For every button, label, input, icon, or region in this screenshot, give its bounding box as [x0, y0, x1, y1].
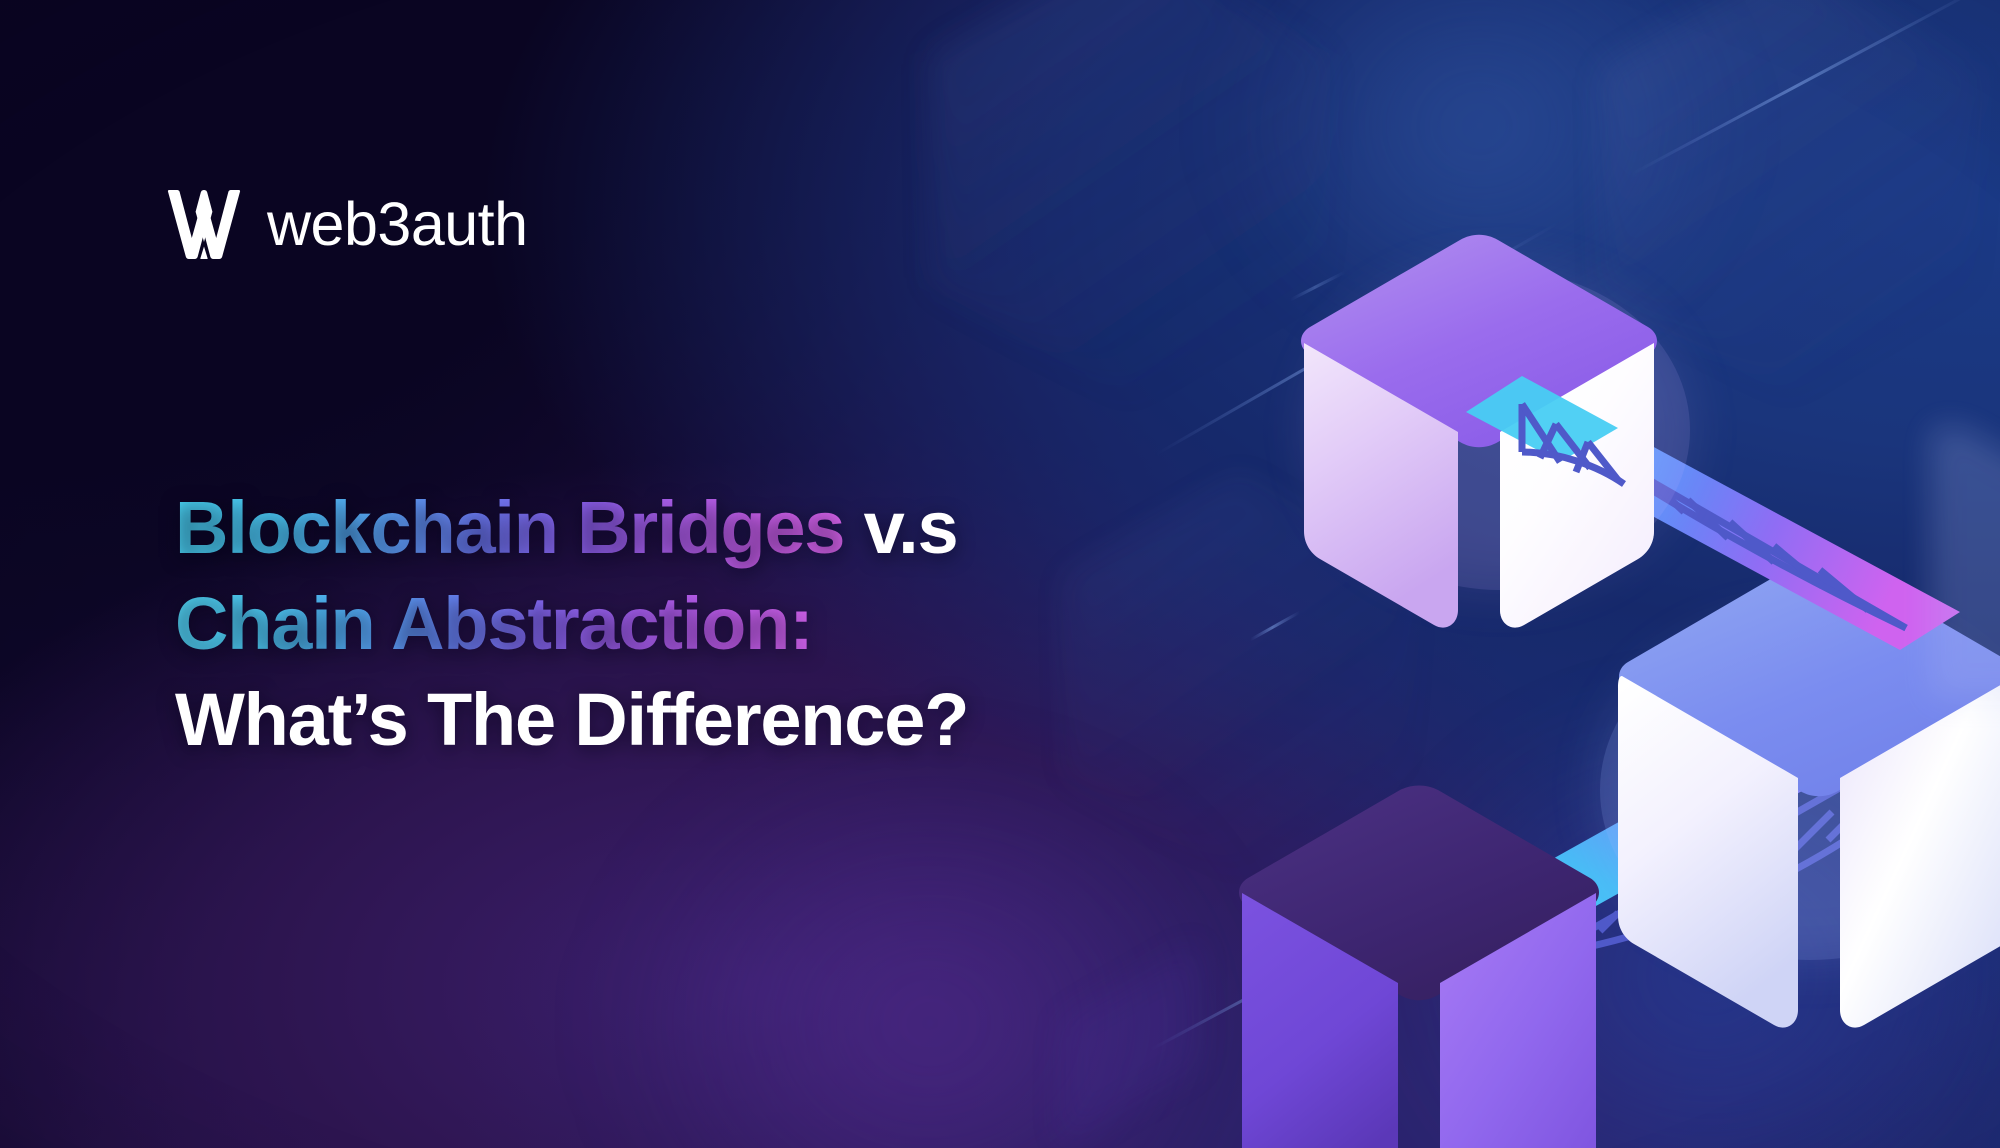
- headline-line-3: What’s The Difference?: [175, 672, 1105, 768]
- headline-gradient-2: Chain Abstraction:: [175, 582, 813, 665]
- headline-line-1: Blockchain Bridges v.s: [175, 480, 1105, 576]
- headline-line-2: Chain Abstraction:: [175, 576, 1105, 672]
- headline-white-2: What’s The Difference?: [175, 678, 968, 761]
- brand-name: web3auth: [267, 194, 528, 255]
- page-title: Blockchain Bridges v.s Chain Abstraction…: [175, 480, 1105, 769]
- banner-content: web3auth Blockchain Bridges v.s Chain Ab…: [0, 0, 1120, 1148]
- brand-logo[interactable]: web3auth: [167, 188, 528, 260]
- headline-white-1: v.s: [844, 486, 957, 569]
- headline-gradient-1: Blockchain Bridges: [175, 486, 844, 569]
- blog-hero-banner: web3auth Blockchain Bridges v.s Chain Ab…: [0, 0, 2000, 1148]
- web3auth-w-mark-icon: [167, 188, 241, 260]
